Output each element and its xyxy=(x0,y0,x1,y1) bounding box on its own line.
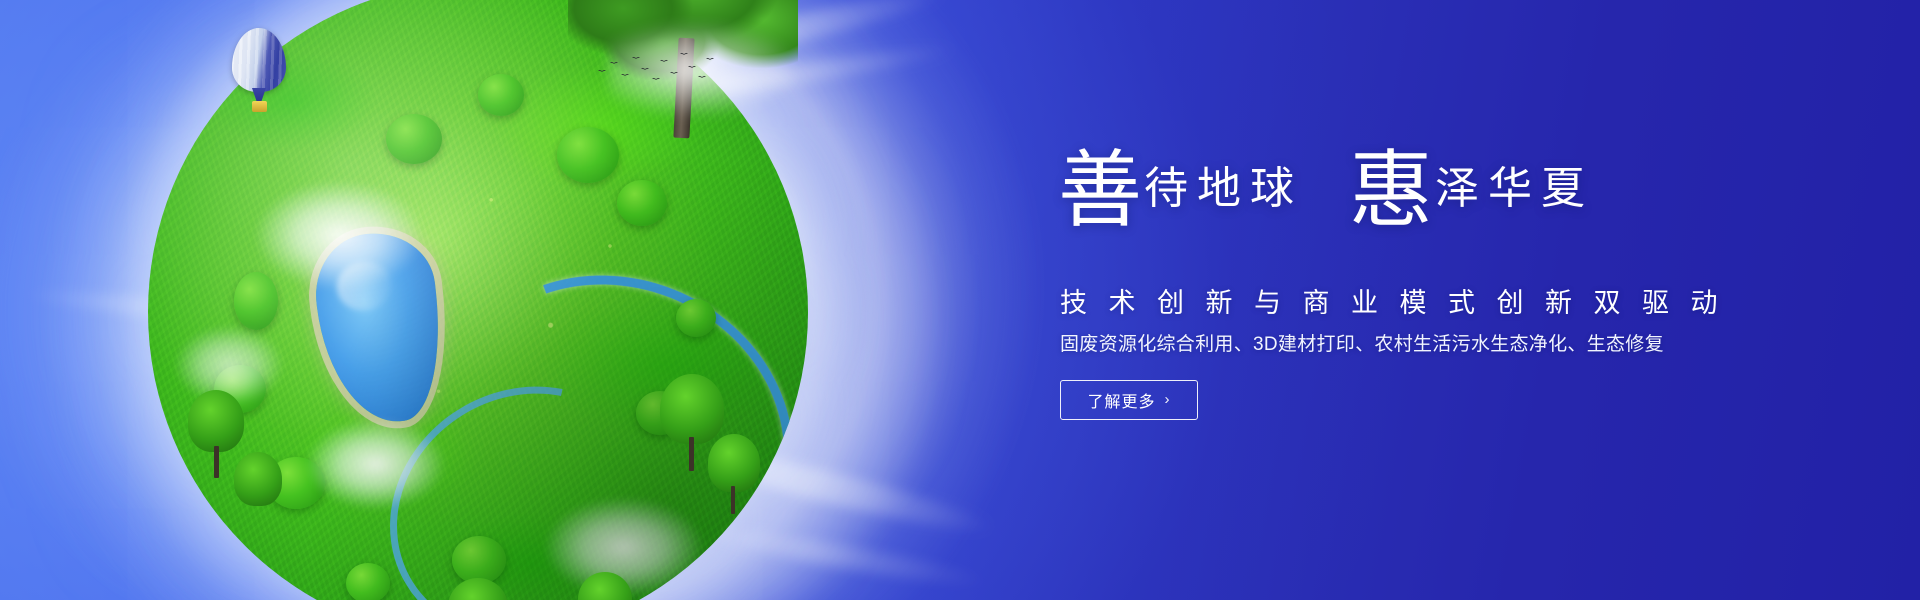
headline-text-daidiqiu: 待地球 xyxy=(1144,164,1303,213)
edge-tree-trunk xyxy=(214,446,219,478)
hot-air-balloon-icon xyxy=(232,28,286,120)
hero-banner: 善待地球惠泽华夏 技 术 创 新 与 商 业 模 式 创 新 双 驱 动 固废资… xyxy=(0,0,1920,600)
tree-canopy xyxy=(346,563,390,600)
edge-tree-trunk xyxy=(689,437,694,471)
balloon-envelope xyxy=(232,28,286,92)
edge-tree-trunk xyxy=(731,486,735,514)
edge-tree xyxy=(660,374,724,444)
hero-subtitle: 技 术 创 新 与 商 业 模 式 创 新 双 驱 动 xyxy=(1060,281,1725,320)
headline-text-zehuaxia: 泽华夏 xyxy=(1435,164,1594,213)
balloon-neck xyxy=(252,88,266,101)
balloon-basket xyxy=(252,101,267,112)
surface-cloud xyxy=(254,180,424,290)
tree-canopy xyxy=(617,180,667,226)
headline-char-shan: 善 xyxy=(1058,145,1142,238)
tree-canopy xyxy=(234,272,278,330)
learn-more-label: 了解更多 xyxy=(1087,388,1155,412)
chevron-right-icon: › xyxy=(1165,392,1171,407)
hero-content: 善待地球惠泽华夏 技 术 创 新 与 商 业 模 式 创 新 双 驱 动 固废资… xyxy=(1058,0,1758,600)
learn-more-button[interactable]: 了解更多 › xyxy=(1060,380,1198,420)
edge-tree xyxy=(234,452,282,506)
hero-description: 固废资源化综合利用、3D建材打印、农村生活污水生态净化、生态修复 xyxy=(1060,329,1664,356)
edge-tree xyxy=(708,434,760,492)
tree-canopy xyxy=(386,114,442,164)
tree-canopy xyxy=(676,299,716,337)
hero-headline: 善待地球惠泽华夏 xyxy=(1058,150,1594,234)
surface-cloud xyxy=(306,418,446,510)
edge-tree xyxy=(188,390,244,452)
bird-flock-icon xyxy=(596,48,716,92)
headline-char-hui: 惠 xyxy=(1349,145,1433,238)
